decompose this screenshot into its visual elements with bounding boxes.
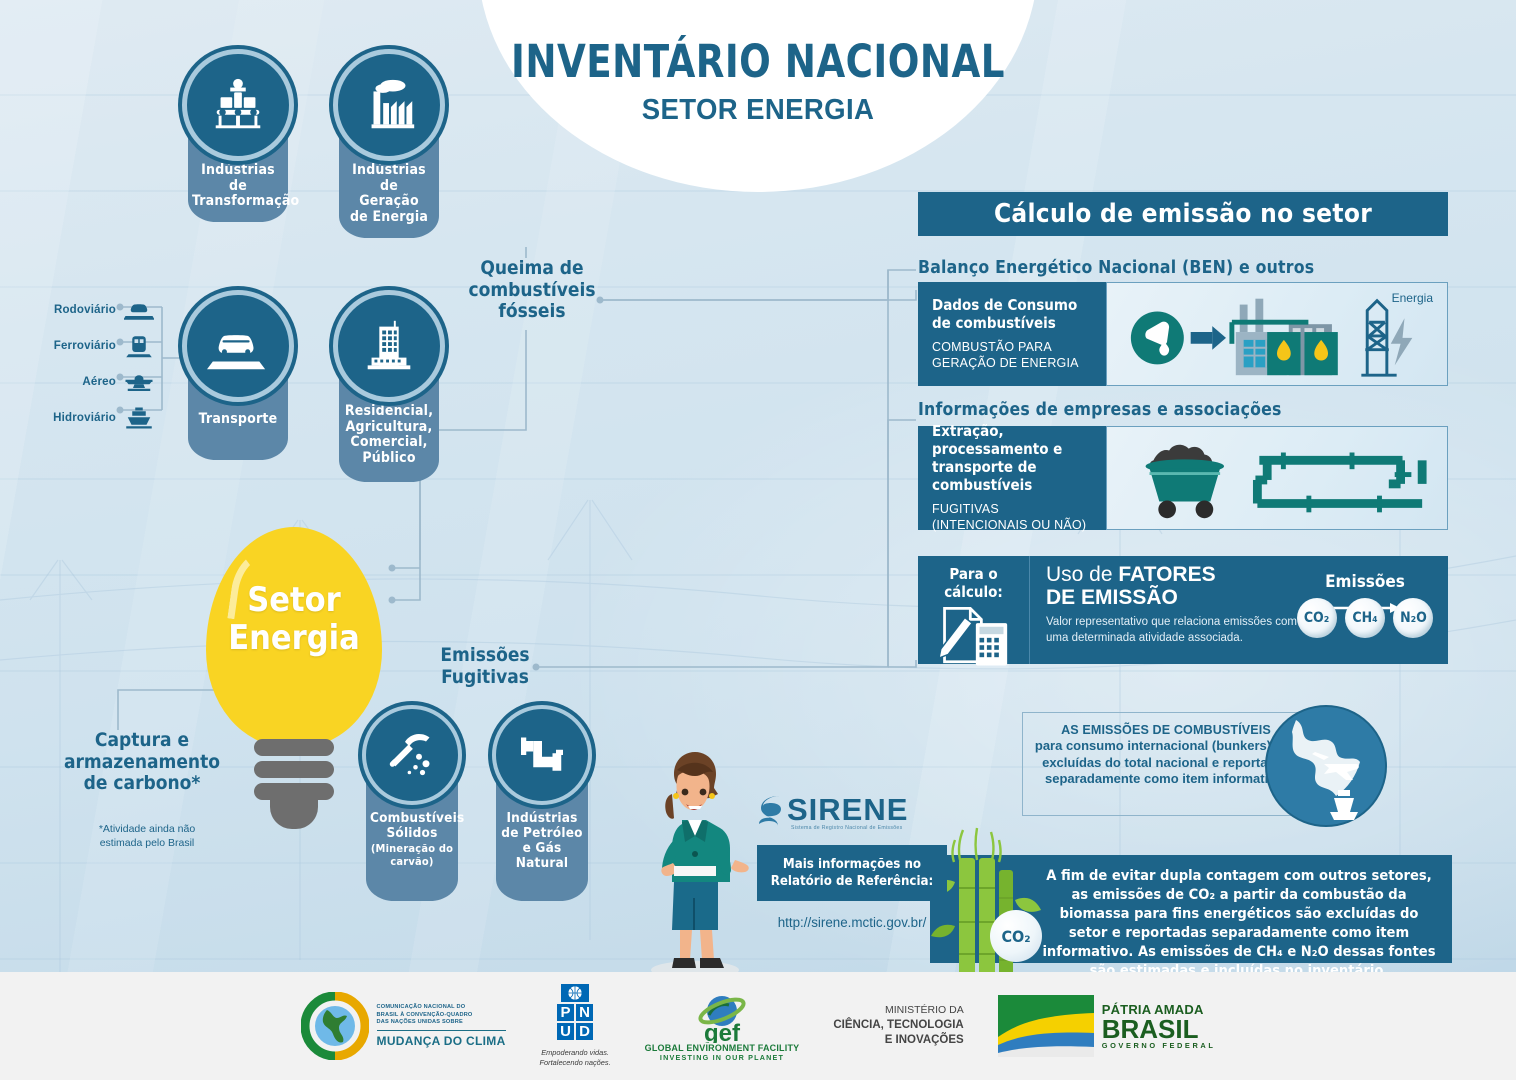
svg-text:D: D — [579, 1023, 590, 1040]
badge-circle — [333, 290, 445, 402]
list-item[interactable]: Rodoviário — [14, 292, 154, 328]
badge-circle — [182, 49, 294, 161]
calc-header: Cálculo de emissão no setor — [918, 192, 1448, 236]
page-subtitle: SETOR ENERGIA — [492, 94, 1024, 127]
mode-label: Rodoviário — [54, 304, 116, 316]
mode-label: Aéreo — [82, 376, 116, 388]
mcti-line3: E INOVAÇÕES — [833, 1033, 963, 1048]
airplane-icon — [124, 369, 154, 395]
road-vehicle-icon — [124, 297, 154, 323]
pnud-icon: P N U D — [553, 984, 597, 1042]
mcti-line1: MINISTÉRIO DA — [833, 1004, 963, 1018]
bunkers-note-line1: AS EMISSÕES DE COMBUSTÍVEIS — [1033, 722, 1299, 738]
building-icon — [358, 315, 420, 377]
sirene-block[interactable]: SIRENE Sistema de Registro Nacional de E… — [757, 792, 947, 930]
logo-caption: Empoderando vidas. Fortalecendo nações. — [540, 1048, 611, 1068]
label-queima-combustiveis: Queima de combustíveis fósseis — [452, 258, 612, 323]
bulb-tip — [270, 799, 318, 829]
factors-heading-bold: FATORES — [1118, 563, 1215, 586]
ship-icon — [124, 405, 154, 431]
mcti-line2: CIÊNCIA, TECNOLOGIA — [833, 1018, 963, 1033]
brasil-flag-icon — [998, 995, 1094, 1057]
logo-title: GLOBAL ENVIRONMENT FACILITY — [645, 1043, 800, 1053]
panel-title: Extração, processamento e transporte de … — [932, 422, 1092, 494]
svg-text:N: N — [579, 1004, 590, 1021]
emissions-block: Emissões CO₂ CH₄ N₂O — [1290, 572, 1440, 638]
page-title: INVENTÁRIO NACIONAL — [500, 38, 1015, 85]
svg-text:gef: gef — [704, 1020, 741, 1043]
svg-text:U: U — [560, 1023, 571, 1040]
panel-right-empresas — [1106, 426, 1448, 530]
illustration-caption: Energia — [1392, 291, 1433, 305]
logo-patria-amada-brasil: PÁTRIA AMADA BRASIL GOVERNO FEDERAL — [998, 995, 1216, 1057]
section-title-ben: Balanço Energético Nacional (BEN) e outr… — [918, 258, 1314, 278]
label-captura-carbono: Captura e armazenamento de carbono* — [42, 730, 242, 795]
bulb-ring — [254, 761, 334, 778]
biomass-note-text: A fim de evitar dupla contagem com outro… — [1042, 867, 1435, 979]
calc-header-label: Cálculo de emissão no setor — [994, 199, 1372, 229]
section-title-empresas: Informações de empresas e associações — [918, 400, 1282, 420]
factors-right: Uso de FATORES DE EMISSÃO Valor represen… — [1030, 556, 1448, 664]
coal-cart-pipeline-icon — [1107, 427, 1447, 529]
emissions-title: Emissões — [1290, 572, 1440, 592]
factors-heading-light: Uso de — [1046, 563, 1118, 586]
bunkers-note-body: para consumo internacional (bunkers) são… — [1033, 738, 1299, 788]
molecule-n2o: N₂O — [1393, 598, 1433, 638]
captura-footnote: *Atividade ainda não estimada pelo Brasi… — [52, 822, 242, 850]
train-icon — [124, 333, 154, 359]
list-item[interactable]: Hidroviário — [14, 400, 154, 436]
mode-label: Ferroviário — [54, 340, 116, 352]
pickaxe-mining-icon — [384, 727, 440, 783]
panel-right-ben: Energia — [1106, 282, 1448, 386]
brasil-wordmark: PÁTRIA AMADA BRASIL GOVERNO FEDERAL — [1102, 1002, 1216, 1051]
transport-modes-list: Rodoviário Ferroviário Aéreo — [14, 292, 154, 436]
panel-empresas: Extração, processamento e transporte de … — [918, 426, 1448, 530]
mode-label: Hidroviário — [53, 412, 116, 424]
panel-left-empresas: Extração, processamento e transporte de … — [918, 426, 1106, 530]
presenter-avatar — [630, 748, 760, 980]
factors-left: Para o cálculo: — [918, 556, 1030, 664]
panel-subtitle: COMBUSTÃO PARA GERAÇÃO DE ENERGIA — [932, 340, 1092, 371]
pipe-valve-icon — [514, 727, 570, 783]
bulb-line-2: Energia — [206, 619, 382, 657]
globe-transport-icon — [1262, 702, 1390, 830]
list-item[interactable]: Aéreo — [14, 364, 154, 400]
sirene-tagline: Sistema de Registro Nacional de Emissões — [791, 825, 947, 831]
logo-title: MUDANÇA DO CLIMA — [377, 1030, 506, 1048]
badge-circle — [182, 290, 294, 402]
gef-icon: gef — [679, 991, 765, 1043]
bulb-text: Setor Energia — [206, 581, 382, 657]
infographic-canvas: INVENTÁRIO NACIONAL SETOR ENERGIA — [0, 0, 1516, 1080]
car-icon — [207, 315, 269, 377]
logo-caption: INVESTING IN OUR PLANET — [660, 1053, 784, 1062]
molecule-ch4: CH₄ — [1345, 598, 1385, 638]
logo-pnud: P N U D Empoderando vidas. Fortalecendo … — [540, 984, 611, 1068]
bulb-line-1: Setor — [206, 581, 382, 619]
co2-bubble-label: CO₂ — [1001, 927, 1030, 946]
panel-ben: Dados de Consumo de combustíveis COMBUST… — [918, 282, 1448, 386]
bulb-ring — [254, 739, 334, 756]
logo-mcti: MINISTÉRIO DA CIÊNCIA, TECNOLOGIA E INOV… — [833, 1004, 963, 1048]
document-calculator-icon — [918, 601, 1030, 671]
logo-gef: gef GLOBAL ENVIRONMENT FACILITY INVESTIN… — [645, 991, 800, 1062]
panel-title: Dados de Consumo de combustíveis — [932, 296, 1092, 332]
co2-bubble: CO₂ — [990, 910, 1042, 962]
brasil-line3: GOVERNO FEDERAL — [1102, 1041, 1216, 1050]
badge-circle — [492, 705, 592, 805]
logo-caption: COMUNICAÇÃO NACIONAL DO BRASIL À CONVENÇ… — [377, 1004, 506, 1027]
factors-heading-line2: DE EMISSÃO — [1046, 586, 1178, 609]
sirene-wordmark: SIRENE — [787, 792, 908, 828]
molecule-co2: CO₂ — [1297, 598, 1337, 638]
factors-description: Valor representativo que relaciona emiss… — [1046, 615, 1306, 646]
badge-circle — [362, 705, 462, 805]
brasil-line2: BRASIL — [1102, 1017, 1216, 1042]
header: INVENTÁRIO NACIONAL SETOR ENERGIA — [478, 38, 1038, 127]
panel-subtitle: FUGITIVAS (INTENCIONAIS OU NÃO) — [932, 502, 1092, 533]
label-emissoes-fugitivas: Emissões Fugitivas — [415, 645, 555, 688]
panel-fatores-emissao: Para o cálculo: Uso de FATORES DE EMISSÃ… — [918, 556, 1448, 664]
sirene-logo: SIRENE — [757, 792, 947, 828]
sirene-swoosh-icon — [757, 793, 785, 827]
sirene-url[interactable]: http://sirene.mctic.gov.br/ — [757, 915, 947, 930]
factors-left-title: Para o cálculo: — [918, 556, 1029, 601]
svg-text:P: P — [561, 1004, 571, 1021]
panel-left-ben: Dados de Consumo de combustíveis COMBUST… — [918, 282, 1106, 386]
power-plant-icon — [358, 74, 420, 136]
list-item[interactable]: Ferroviário — [14, 328, 154, 364]
sirene-cta[interactable]: Mais informações no Relatório de Referên… — [757, 845, 947, 901]
bulb-ring — [254, 783, 334, 800]
unfccc-globe-icon — [301, 992, 369, 1060]
badge-circle — [333, 49, 445, 161]
footer: COMUNICAÇÃO NACIONAL DO BRASIL À CONVENÇ… — [0, 972, 1516, 1080]
logo-mudanca-do-clima: COMUNICAÇÃO NACIONAL DO BRASIL À CONVENÇ… — [301, 992, 506, 1060]
factory-worker-conveyor-icon — [207, 74, 269, 136]
